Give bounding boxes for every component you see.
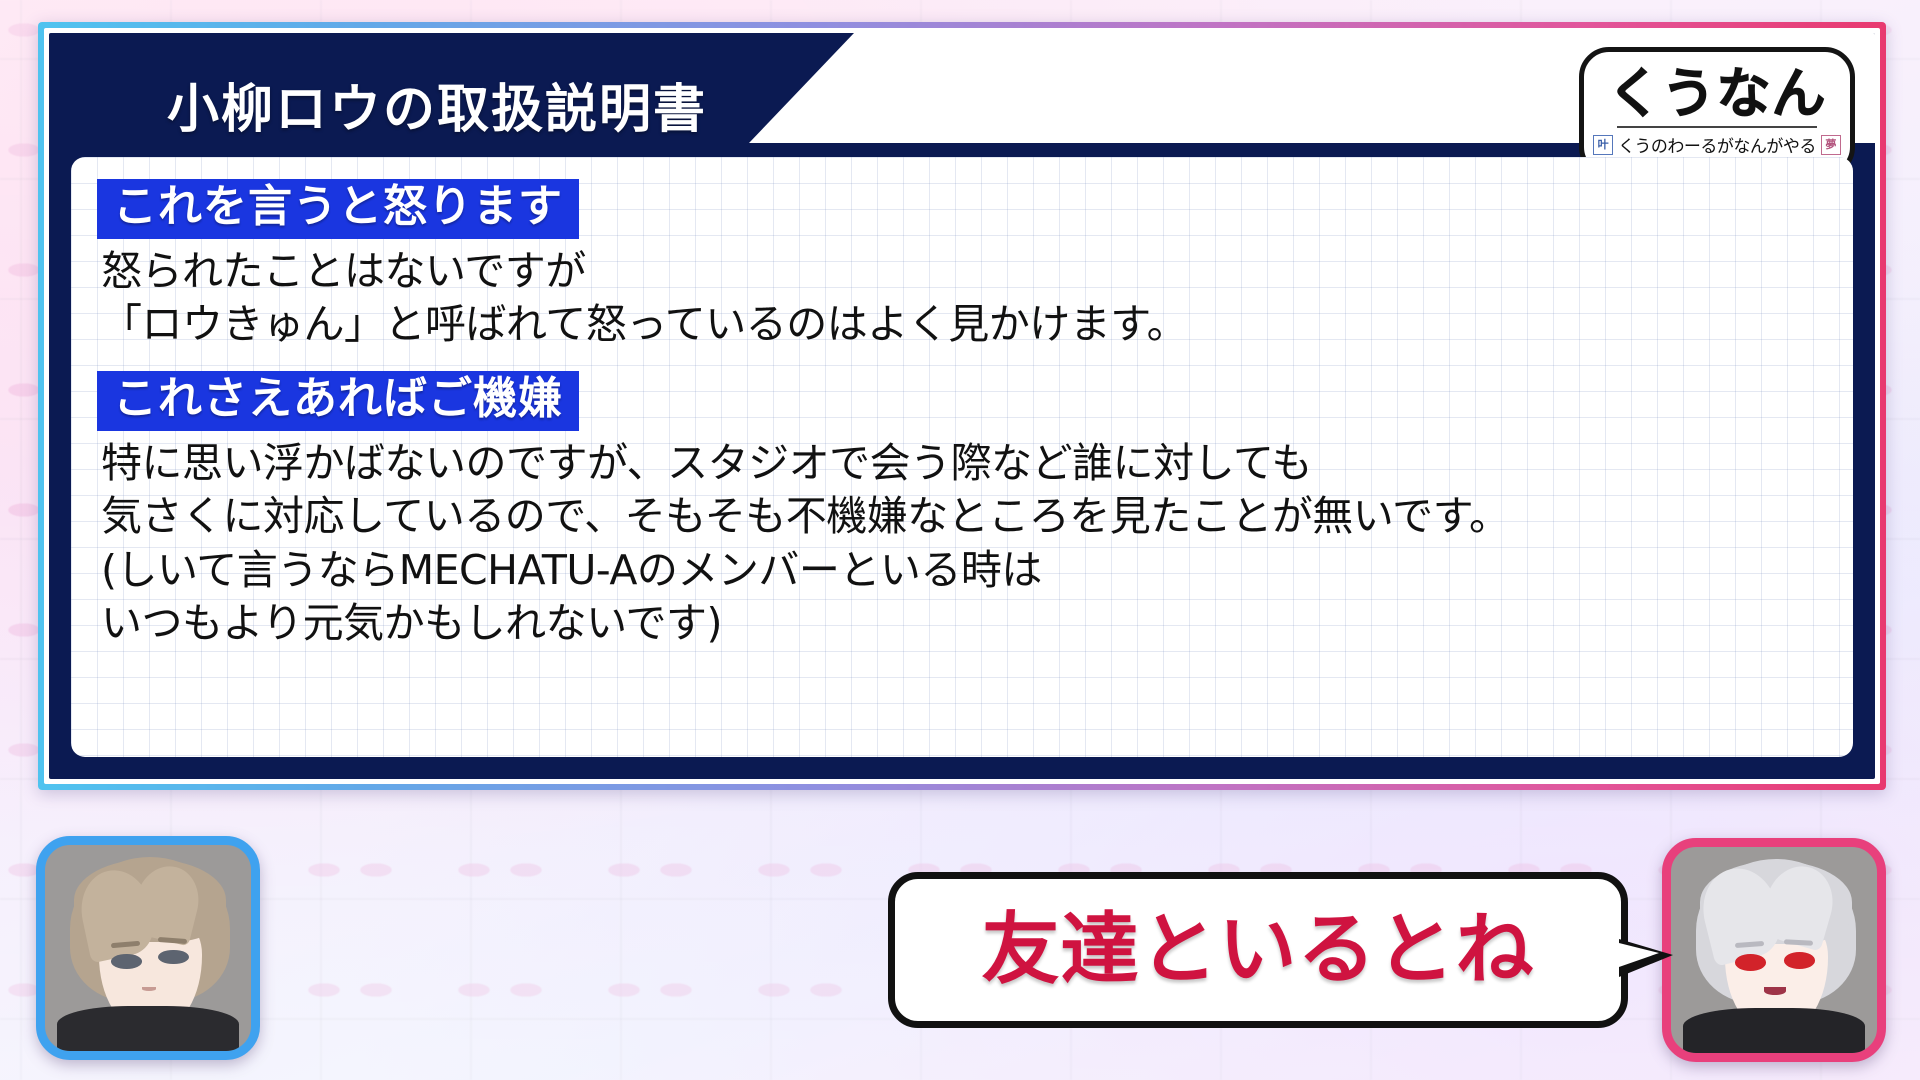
section-body: 怒られたことはないですが 「ロウきゅん」と呼ばれて怒っているのはよく見かけます。	[101, 245, 1827, 352]
section-heading: これを言うと怒ります	[97, 179, 579, 239]
speech-bubble-tail-inner	[1619, 943, 1659, 967]
body-line: 特に思い浮かばないのですが、スタジオで会う際など誰に対しても	[101, 437, 1827, 490]
body-line: 怒られたことはないですが	[101, 245, 1827, 298]
avatar-left-illustration	[45, 845, 251, 1051]
section-heading: これさえあればご機嫌	[97, 371, 579, 431]
info-card-inner: 小柳ロウの取扱説明書 くうなん 叶 くうのわーるがなんがやる 夢 これを言うと怒…	[44, 28, 1880, 784]
avatar-right	[1662, 838, 1886, 1062]
channel-logo-main-text: くうなん	[1608, 67, 1827, 121]
qa-section-mood: これさえあればご機嫌 特に思い浮かばないのですが、スタジオで会う際など誰に対して…	[97, 371, 1827, 650]
eyebrow-icon	[1784, 939, 1813, 945]
speech-bubble: 友達といるとね	[888, 872, 1628, 1028]
body-line: 気さくに対応しているので、そもそも不機嫌なところを見たことが無いです。	[101, 490, 1827, 543]
avatar-right-illustration	[1671, 847, 1877, 1053]
info-card-navy-panel: 小柳ロウの取扱説明書 くうなん 叶 くうのわーるがなんがやる 夢 これを言うと怒…	[49, 33, 1875, 779]
section-body: 特に思い浮かばないのですが、スタジオで会う際など誰に対しても 気さくに対応してい…	[101, 437, 1827, 650]
avatar-left	[36, 836, 260, 1060]
torso-shape	[57, 1006, 238, 1051]
speech-bubble-text: 友達といるとね	[981, 911, 1534, 989]
body-line: (しいて言うならMECHATU-Aのメンバーといる時は	[101, 544, 1827, 597]
qa-section-anger: これを言うと怒ります 怒られたことはないですが 「ロウきゅん」と呼ばれて怒ってい…	[97, 179, 1827, 351]
info-card: 小柳ロウの取扱説明書 くうなん 叶 くうのわーるがなんがやる 夢 これを言うと怒…	[38, 22, 1886, 790]
content-sheet: これを言うと怒ります 怒られたことはないですが 「ロウきゅん」と呼ばれて怒ってい…	[71, 157, 1853, 757]
channel-logo-divider	[1617, 126, 1817, 128]
torso-shape	[1683, 1008, 1864, 1053]
logo-right-badge-icon: 夢	[1821, 135, 1841, 155]
body-line: いつもより元気かもしれないです)	[101, 597, 1827, 650]
slide-stage: 小柳ロウの取扱説明書 くうなん 叶 くうのわーるがなんがやる 夢 これを言うと怒…	[0, 0, 1920, 1080]
body-line: 「ロウきゅん」と呼ばれて怒っているのはよく見かけます。	[101, 298, 1827, 351]
logo-left-badge-icon: 叶	[1593, 135, 1613, 155]
eye-icon	[1784, 952, 1815, 968]
channel-logo-subtitle: くうのわーるがなんがやる	[1618, 132, 1816, 157]
eye-icon	[111, 954, 142, 968]
page-title: 小柳ロウの取扱説明書	[167, 67, 707, 142]
eye-icon	[1735, 954, 1766, 970]
channel-logo-subtitle-row: 叶 くうのわーるがなんがやる 夢	[1593, 132, 1841, 157]
